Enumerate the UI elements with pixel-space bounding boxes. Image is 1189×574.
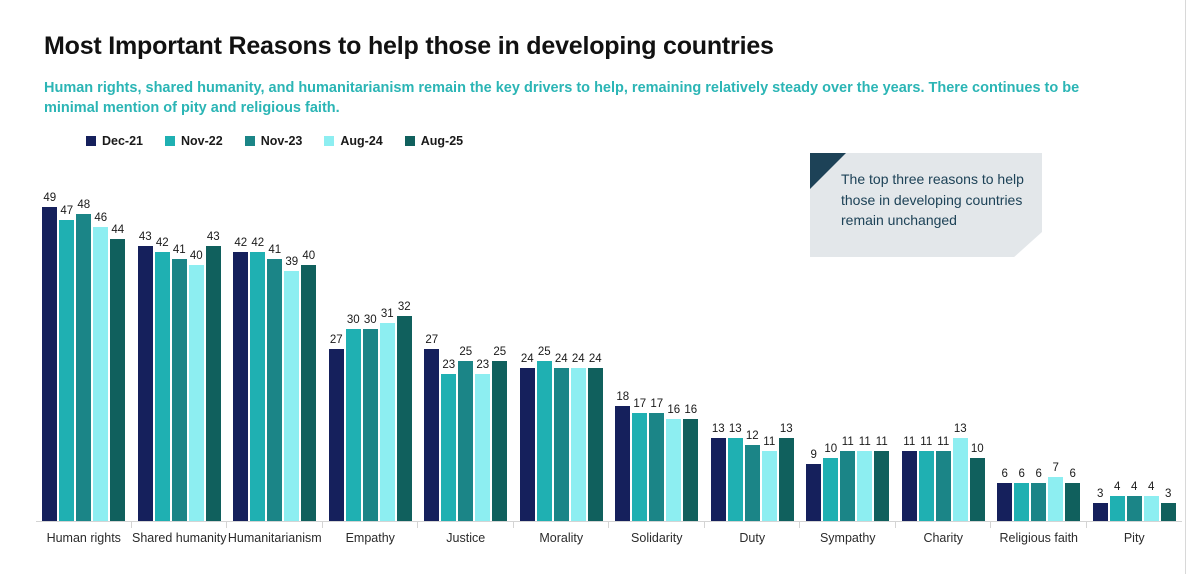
category-label: Charity	[896, 531, 992, 545]
chart-legend: Dec-21Nov-22Nov-23Aug-24Aug-25	[86, 134, 463, 148]
bar-column[interactable]: 13	[711, 170, 726, 522]
bar-column[interactable]: 3	[1093, 170, 1108, 522]
bar-column[interactable]: 42	[155, 170, 170, 522]
bar-value-label: 25	[493, 346, 506, 358]
bar[interactable]	[728, 438, 743, 522]
bar-group-bars: 1111111310	[902, 170, 985, 522]
bar-value-label: 11	[920, 436, 932, 448]
bar-value-label: 43	[139, 231, 152, 243]
bar-group-bars: 34443	[1093, 170, 1176, 522]
bar-value-label: 42	[251, 237, 264, 249]
legend-swatch-icon	[324, 136, 334, 146]
bar-column[interactable]: 48	[76, 170, 91, 522]
bar[interactable]	[458, 361, 473, 522]
legend-item[interactable]: Dec-21	[86, 134, 143, 148]
bar-value-label: 31	[381, 308, 394, 320]
bar-column[interactable]: 6	[1014, 170, 1029, 522]
bar[interactable]	[1161, 503, 1176, 522]
bar-column[interactable]: 40	[189, 170, 204, 522]
legend-item-label: Nov-22	[181, 134, 223, 148]
bar-column[interactable]: 40	[301, 170, 316, 522]
category-label: Empathy	[323, 531, 419, 545]
bar-value-label: 11	[859, 436, 871, 448]
legend-item[interactable]: Aug-24	[324, 134, 382, 148]
bar-column[interactable]: 3	[1161, 170, 1176, 522]
bar-column[interactable]: 17	[632, 170, 647, 522]
bar-column[interactable]: 11	[919, 170, 934, 522]
bar[interactable]	[1014, 483, 1029, 522]
bar-value-label: 18	[616, 391, 629, 403]
bar-column[interactable]: 23	[475, 170, 490, 522]
axis-tick	[895, 522, 896, 528]
bar-group-bars: 2730303132	[329, 170, 412, 522]
bar-value-label: 11	[876, 436, 888, 448]
legend-item[interactable]: Nov-23	[245, 134, 303, 148]
bar-value-label: 39	[285, 256, 298, 268]
axis-tick	[513, 522, 514, 528]
bar-group: 4342414043	[132, 170, 228, 522]
bar-group-bars: 1313121113	[711, 170, 794, 522]
bar[interactable]	[110, 239, 125, 522]
bar-group: 34443	[1087, 170, 1183, 522]
bar[interactable]	[874, 451, 889, 522]
legend-item-label: Aug-24	[340, 134, 382, 148]
bar[interactable]	[1065, 483, 1080, 522]
bar-column[interactable]: 10	[823, 170, 838, 522]
bar-value-label: 24	[521, 353, 534, 365]
bar-column[interactable]: 11	[857, 170, 872, 522]
bar-group: 66676	[991, 170, 1087, 522]
axis-tick	[226, 522, 227, 528]
bar-value-label: 9	[811, 449, 817, 461]
bar-value-label: 12	[746, 430, 759, 442]
bar[interactable]	[779, 438, 794, 522]
bar-column[interactable]: 18	[615, 170, 630, 522]
bar-column[interactable]: 42	[233, 170, 248, 522]
bar-value-label: 11	[763, 436, 775, 448]
bar-column[interactable]: 12	[745, 170, 760, 522]
bar[interactable]	[649, 413, 664, 522]
bar-column[interactable]: 11	[762, 170, 777, 522]
bar-value-label: 25	[459, 346, 472, 358]
bar-column[interactable]: 39	[284, 170, 299, 522]
bar-value-label: 4	[1131, 481, 1137, 493]
bar-value-label: 6	[1070, 468, 1076, 480]
bar[interactable]	[762, 451, 777, 522]
bar[interactable]	[588, 368, 603, 522]
bar-column[interactable]: 42	[250, 170, 265, 522]
category-label: Pity	[1087, 531, 1183, 545]
bar-column[interactable]: 27	[424, 170, 439, 522]
category-label: Humanitarianism	[227, 531, 323, 545]
bar[interactable]	[666, 419, 681, 522]
bar-column[interactable]: 46	[93, 170, 108, 522]
bar-value-label: 24	[555, 353, 568, 365]
legend-item[interactable]: Aug-25	[405, 134, 463, 148]
bar[interactable]	[554, 368, 569, 522]
bar-group: 2425242424	[514, 170, 610, 522]
axis-tick	[417, 522, 418, 528]
axis-tick	[322, 522, 323, 528]
bar[interactable]	[380, 323, 395, 522]
bar[interactable]	[59, 220, 74, 522]
bar-group-bars: 66676	[997, 170, 1080, 522]
x-axis-line	[36, 521, 1182, 522]
bar-value-label: 24	[589, 353, 602, 365]
legend-swatch-icon	[405, 136, 415, 146]
bar-value-label: 11	[842, 436, 854, 448]
legend-swatch-icon	[245, 136, 255, 146]
bar-value-label: 10	[824, 443, 837, 455]
category-label: Morality	[514, 531, 610, 545]
bar[interactable]	[997, 483, 1012, 522]
axis-tick	[1086, 522, 1087, 528]
bar-value-label: 44	[111, 224, 124, 236]
bar-group-bars: 910111111	[806, 170, 889, 522]
bar-column[interactable]: 32	[397, 170, 412, 522]
bar[interactable]	[1048, 477, 1063, 522]
bar-value-label: 25	[538, 346, 551, 358]
bar[interactable]	[1110, 496, 1125, 522]
bar-value-label: 46	[94, 212, 107, 224]
bar-value-label: 41	[268, 244, 281, 256]
bar-value-label: 47	[60, 205, 73, 217]
category-label: Human rights	[36, 531, 132, 545]
bar-column[interactable]: 16	[683, 170, 698, 522]
bar[interactable]	[363, 329, 378, 522]
bar-column[interactable]: 24	[554, 170, 569, 522]
legend-swatch-icon	[86, 136, 96, 146]
bar-column[interactable]: 41	[172, 170, 187, 522]
bar-column[interactable]: 11	[874, 170, 889, 522]
bar-column[interactable]: 6	[1065, 170, 1080, 522]
bar-value-label: 11	[937, 436, 949, 448]
category-label: Solidarity	[609, 531, 705, 545]
bar[interactable]	[520, 368, 535, 522]
bar-value-label: 16	[684, 404, 697, 416]
bar[interactable]	[441, 374, 456, 522]
legend-item-label: Aug-25	[421, 134, 463, 148]
bar-column[interactable]: 41	[267, 170, 282, 522]
bar-column[interactable]: 31	[380, 170, 395, 522]
bar[interactable]	[840, 451, 855, 522]
bar[interactable]	[76, 214, 91, 522]
bar[interactable]	[267, 259, 282, 522]
axis-tick	[990, 522, 991, 528]
axis-tick	[608, 522, 609, 528]
category-label: Religious faith	[991, 531, 1087, 545]
bar-value-label: 17	[633, 398, 646, 410]
legend-item-label: Dec-21	[102, 134, 143, 148]
bar[interactable]	[301, 265, 316, 522]
bar[interactable]	[970, 458, 985, 522]
bar-column[interactable]: 13	[779, 170, 794, 522]
bar-group: 1817171616	[609, 170, 705, 522]
bar[interactable]	[857, 451, 872, 522]
bar-column[interactable]: 49	[42, 170, 57, 522]
bar-column[interactable]: 6	[997, 170, 1012, 522]
axis-tick	[799, 522, 800, 528]
bar-column[interactable]: 4	[1110, 170, 1125, 522]
bar-column[interactable]: 4	[1144, 170, 1159, 522]
bar-value-label: 6	[1002, 468, 1008, 480]
bar[interactable]	[806, 464, 821, 522]
bar-value-label: 27	[425, 334, 438, 346]
bar[interactable]	[492, 361, 507, 522]
bar-group: 1313121113	[705, 170, 801, 522]
bar-column[interactable]: 25	[492, 170, 507, 522]
bar-value-label: 11	[903, 436, 915, 448]
bar-column[interactable]: 17	[649, 170, 664, 522]
bar[interactable]	[189, 265, 204, 522]
bar-value-label: 16	[667, 404, 680, 416]
bar-value-label: 32	[398, 301, 411, 313]
bar-column[interactable]: 30	[346, 170, 361, 522]
bar-column[interactable]: 25	[537, 170, 552, 522]
slide-canvas: Most Important Reasons to help those in …	[0, 0, 1189, 574]
bar-value-label: 43	[207, 231, 220, 243]
bar[interactable]	[936, 451, 951, 522]
bar-groups: 4947484644434241404342424139402730303132…	[36, 170, 1182, 522]
axis-tick	[131, 522, 132, 528]
bar-column[interactable]: 30	[363, 170, 378, 522]
bar[interactable]	[571, 368, 586, 522]
legend-swatch-icon	[165, 136, 175, 146]
bar[interactable]	[42, 207, 57, 522]
bar[interactable]	[284, 271, 299, 522]
bar[interactable]	[1093, 503, 1108, 522]
bar-column[interactable]: 43	[206, 170, 221, 522]
bar[interactable]	[1031, 483, 1046, 522]
bar-value-label: 41	[173, 244, 186, 256]
bar-value-label: 13	[729, 423, 742, 435]
bar-column[interactable]: 25	[458, 170, 473, 522]
bar-column[interactable]: 10	[970, 170, 985, 522]
bar[interactable]	[823, 458, 838, 522]
bar[interactable]	[346, 329, 361, 522]
bar-group: 2730303132	[323, 170, 419, 522]
bar-group-bars: 4242413940	[233, 170, 316, 522]
bar-group-bars: 1817171616	[615, 170, 698, 522]
category-label: Sympathy	[800, 531, 896, 545]
bar[interactable]	[902, 451, 917, 522]
bar-group: 2723252325	[418, 170, 514, 522]
bar-value-label: 4	[1148, 481, 1154, 493]
bar-column[interactable]: 13	[953, 170, 968, 522]
bar-column[interactable]: 24	[520, 170, 535, 522]
bar[interactable]	[615, 406, 630, 522]
bar-column[interactable]: 23	[441, 170, 456, 522]
bar[interactable]	[683, 419, 698, 522]
bar-value-label: 40	[302, 250, 315, 262]
bar-group-bars: 4947484644	[42, 170, 125, 522]
bar-value-label: 40	[190, 250, 203, 262]
axis-tick	[704, 522, 705, 528]
bar-value-label: 6	[1036, 468, 1042, 480]
category-label: Duty	[705, 531, 801, 545]
bar[interactable]	[632, 413, 647, 522]
bar[interactable]	[250, 252, 265, 522]
legend-item[interactable]: Nov-22	[165, 134, 223, 148]
bar-group: 910111111	[800, 170, 896, 522]
bar[interactable]	[172, 259, 187, 522]
bar[interactable]	[1127, 496, 1142, 522]
bar[interactable]	[537, 361, 552, 522]
bar-column[interactable]: 43	[138, 170, 153, 522]
bar-column[interactable]: 47	[59, 170, 74, 522]
bar-column[interactable]: 6	[1031, 170, 1046, 522]
bar-group: 4242413940	[227, 170, 323, 522]
bar[interactable]	[1144, 496, 1159, 522]
bar-value-label: 23	[476, 359, 489, 371]
bar[interactable]	[745, 445, 760, 522]
bar-column[interactable]: 11	[840, 170, 855, 522]
bar-value-label: 13	[712, 423, 725, 435]
bar-value-label: 13	[954, 423, 967, 435]
right-edge-rule	[1185, 0, 1186, 574]
bar-group-bars: 2425242424	[520, 170, 603, 522]
bar[interactable]	[953, 438, 968, 522]
bar-group: 4947484644	[36, 170, 132, 522]
subtitle-text: Human rights, shared humanity, and human…	[44, 79, 1119, 118]
legend-item-label: Nov-23	[261, 134, 303, 148]
bar[interactable]	[475, 374, 490, 522]
bar-value-label: 42	[156, 237, 169, 249]
bar-group: 1111111310	[896, 170, 992, 522]
bar[interactable]	[155, 252, 170, 522]
bar-value-label: 49	[43, 192, 56, 204]
bar[interactable]	[919, 451, 934, 522]
bar-column[interactable]: 27	[329, 170, 344, 522]
bar-value-label: 27	[330, 334, 343, 346]
bar[interactable]	[233, 252, 248, 522]
bar-column[interactable]: 7	[1048, 170, 1063, 522]
bar[interactable]	[93, 227, 108, 522]
bar-column[interactable]: 24	[588, 170, 603, 522]
bar-value-label: 24	[572, 353, 585, 365]
category-axis-labels: Human rightsShared humanityHumanitariani…	[36, 531, 1182, 545]
bar-value-label: 10	[971, 443, 984, 455]
bar-value-label: 3	[1165, 488, 1171, 500]
bar[interactable]	[206, 246, 221, 522]
bar-group-bars: 4342414043	[138, 170, 221, 522]
bar-column[interactable]: 13	[728, 170, 743, 522]
bar[interactable]	[397, 316, 412, 522]
bar-value-label: 13	[780, 423, 793, 435]
bar-value-label: 30	[347, 314, 360, 326]
bar[interactable]	[138, 246, 153, 522]
bar-group-bars: 2723252325	[424, 170, 507, 522]
bar-value-label: 42	[234, 237, 247, 249]
bar-value-label: 6	[1019, 468, 1025, 480]
bar-value-label: 4	[1114, 481, 1120, 493]
bar[interactable]	[329, 349, 344, 522]
category-label: Justice	[418, 531, 514, 545]
bar-value-label: 48	[77, 199, 90, 211]
bar-column[interactable]: 11	[902, 170, 917, 522]
bar-column[interactable]: 44	[110, 170, 125, 522]
bar-value-label: 3	[1097, 488, 1103, 500]
bar-column[interactable]: 11	[936, 170, 951, 522]
bar-value-label: 17	[650, 398, 663, 410]
bar-column[interactable]: 9	[806, 170, 821, 522]
category-label: Shared humanity	[132, 531, 228, 545]
bar-value-label: 23	[442, 359, 455, 371]
bar-value-label: 30	[364, 314, 377, 326]
bar[interactable]	[424, 349, 439, 522]
page-title: Most Important Reasons to help those in …	[44, 32, 774, 61]
bar-column[interactable]: 24	[571, 170, 586, 522]
bar-column[interactable]: 16	[666, 170, 681, 522]
bar[interactable]	[711, 438, 726, 522]
bar-column[interactable]: 4	[1127, 170, 1142, 522]
bar-value-label: 7	[1053, 462, 1059, 474]
